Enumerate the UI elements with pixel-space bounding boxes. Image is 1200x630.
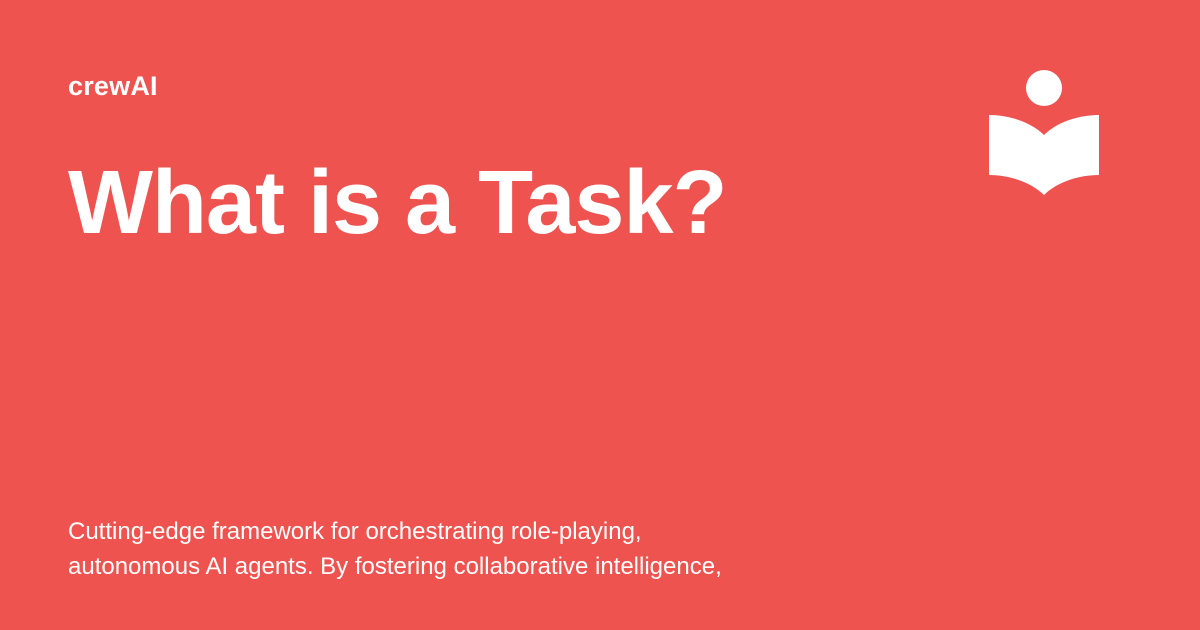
- brand-name: crewAI: [68, 70, 158, 102]
- description-line-1: Cutting-edge framework for orchestrating…: [68, 514, 868, 549]
- description-line-2: autonomous AI agents. By fostering colla…: [68, 549, 868, 584]
- page-title: What is a Task?: [68, 158, 948, 248]
- page-description: Cutting-edge framework for orchestrating…: [68, 514, 868, 584]
- social-preview-card: crewAI What is a Task? Cutting-edge fram…: [0, 0, 1200, 630]
- open-book-reader-icon: [987, 66, 1101, 198]
